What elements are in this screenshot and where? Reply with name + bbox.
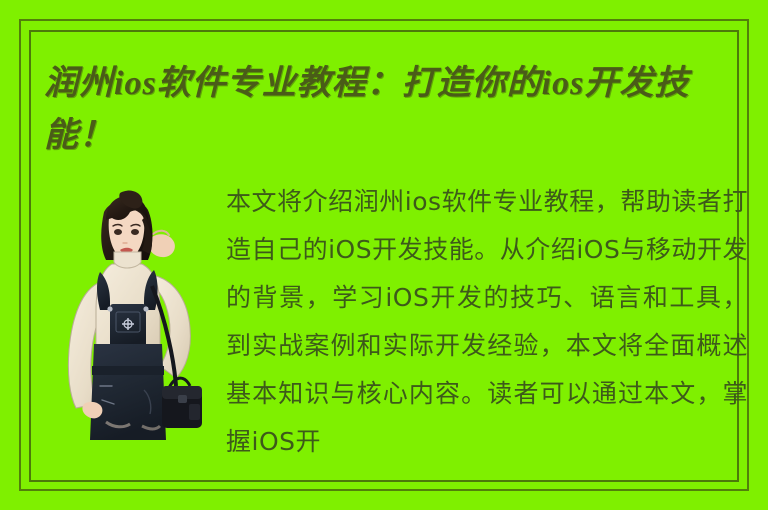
illustration-hand [149, 231, 175, 257]
page-title: 润州ios软件专业教程：打造你的ios开发技能！ [44, 58, 704, 162]
person-illustration-svg [56, 190, 211, 466]
poster-canvas: 润州ios软件专业教程：打造你的ios开发技能！ 本文将介绍润州ios软件专业教… [0, 0, 768, 510]
person-illustration [56, 190, 211, 466]
body-paragraph: 本文将介绍润州ios软件专业教程，帮助读者打造自己的iOS开发技能。从介绍iOS… [226, 178, 748, 466]
illustration-collar [114, 252, 141, 268]
